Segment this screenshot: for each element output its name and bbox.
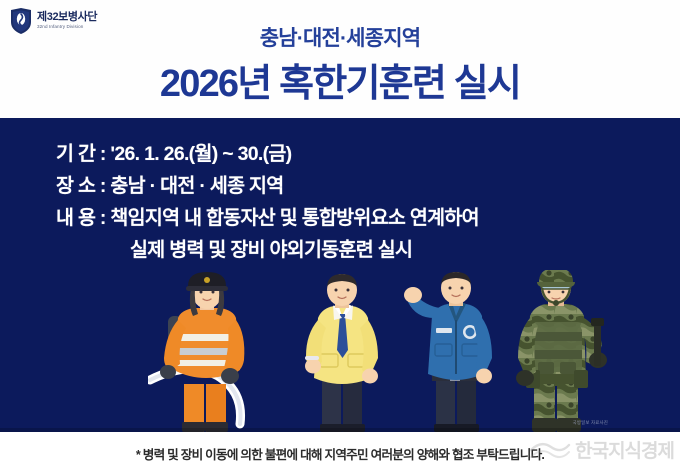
region-subtitle: 충남·대전·세종지역 (0, 22, 680, 52)
announcement-panel: 기 간 : '26. 1. 26.(월) ~ 30.(금) 장 소 : 충남 ·… (0, 118, 680, 432)
announcement-details: 기 간 : '26. 1. 26.(월) ~ 30.(금) 장 소 : 충남 ·… (56, 138, 479, 266)
figure-public-official (278, 274, 408, 432)
page-title: 2026년 혹한기훈련 실시 (0, 52, 680, 107)
figure-illustration-group (0, 267, 680, 432)
footer-note: * 병력 및 장비 이동에 의한 불편에 대해 지역주민 여러분의 양해와 협조… (136, 444, 544, 463)
detail-line-content-cont: 실제 병력 및 장비 야외기동훈련 실시 (56, 234, 479, 266)
poster-root: 제32보병사단 32nd Infantry Division 충남·대전·세종지… (0, 0, 680, 474)
poster-header: 제32보병사단 32nd Infantry Division 충남·대전·세종지… (0, 0, 680, 118)
photo-credit: 국방일보 자료사진 (573, 420, 608, 426)
poster-footer: * 병력 및 장비 이동에 의한 불편에 대해 지역주민 여러분의 양해와 협조… (0, 432, 680, 474)
figure-firefighter (148, 272, 298, 432)
detail-line-location: 장 소 : 충남 · 대전 · 세종 지역 (56, 170, 479, 202)
figure-soldier (488, 270, 628, 432)
detail-line-content: 내 용 : 책임지역 내 합동자산 및 통합방위요소 연계하여 (56, 202, 479, 234)
detail-line-period: 기 간 : '26. 1. 26.(월) ~ 30.(금) (56, 138, 479, 170)
